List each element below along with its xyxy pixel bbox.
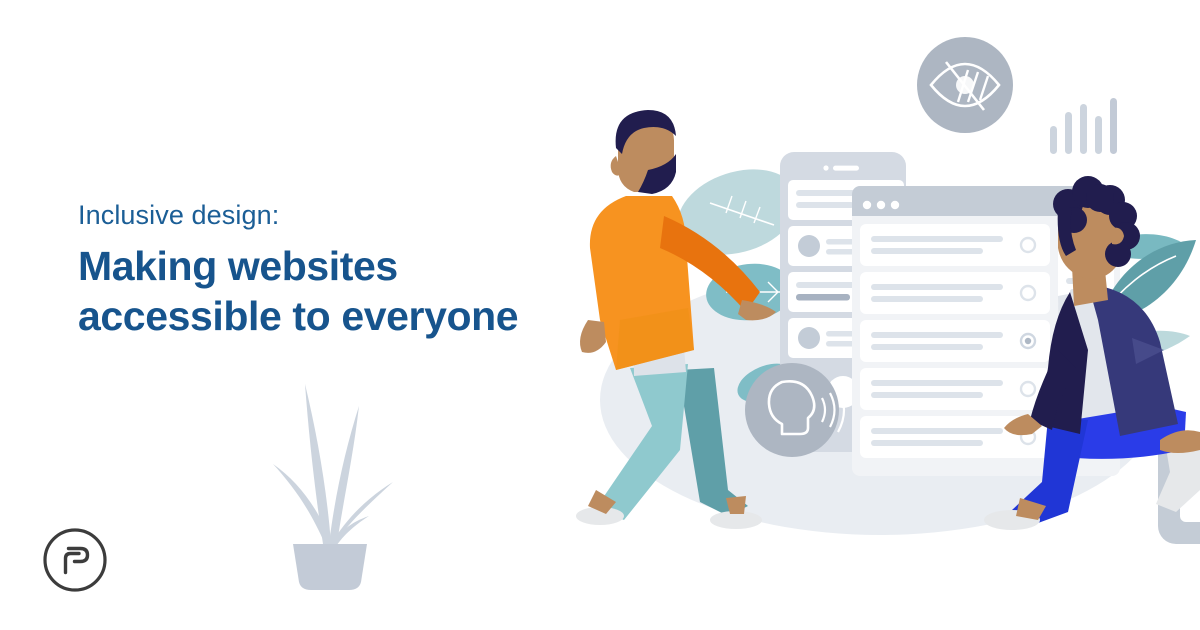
radio-button[interactable] (1021, 382, 1035, 396)
phone-speaker-slot (833, 166, 859, 171)
phone-avatar-1 (798, 235, 820, 257)
bar-chart-icon (1050, 98, 1117, 154)
plant-leaves (273, 384, 393, 548)
phone-camera-dot (823, 165, 828, 170)
browser-dot-1[interactable] (863, 201, 871, 209)
man-hand-left (580, 320, 606, 353)
low-vision-eye-icon[interactable] (917, 37, 1013, 133)
browser-dot-3[interactable] (891, 201, 899, 209)
plant-pot (293, 544, 367, 590)
browser-dot-2[interactable] (877, 201, 885, 209)
phone-avatar-2 (798, 327, 820, 349)
page-title: Making websites accessible to everyone (78, 241, 618, 341)
brand-logo[interactable] (42, 527, 108, 593)
banner-root: Inclusive design: Making websites access… (0, 0, 1200, 630)
headline-line-2: accessible to everyone (78, 291, 618, 341)
potted-plant (265, 372, 395, 590)
headline-line-1: Making websites (78, 241, 618, 291)
eyebrow-text: Inclusive design: (78, 200, 618, 231)
headline-block: Inclusive design: Making websites access… (78, 200, 618, 341)
accessibility-illustration (560, 20, 1200, 620)
radio-button[interactable] (1021, 286, 1035, 300)
radio-button[interactable] (1021, 238, 1035, 252)
